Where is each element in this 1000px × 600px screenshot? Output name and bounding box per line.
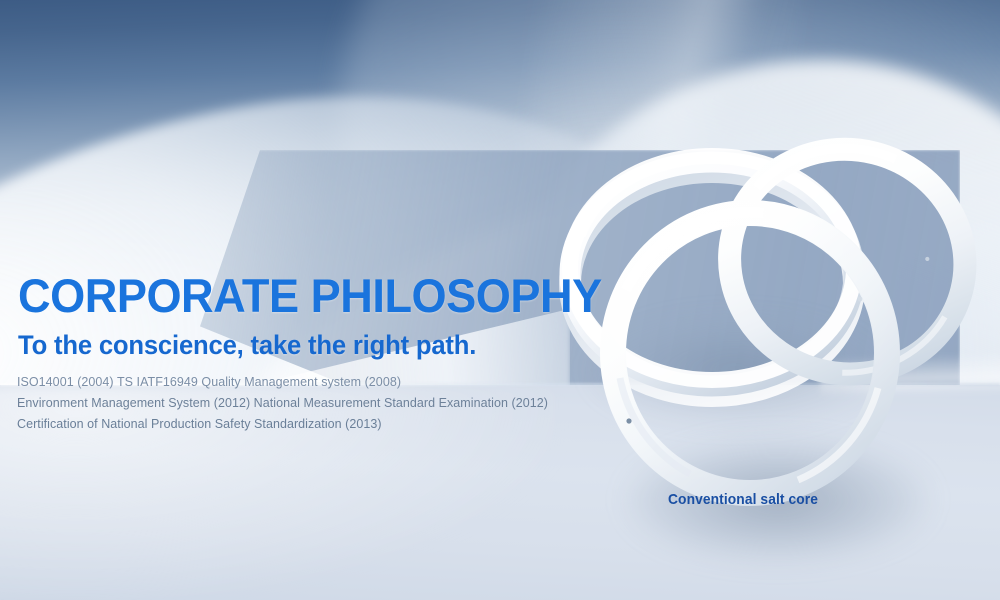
- page-subtitle: To the conscience, take the right path.: [18, 330, 476, 361]
- product-rings-image: [570, 140, 990, 540]
- product-caption: Conventional salt core: [668, 491, 818, 508]
- certification-list: ISO14001 (2004) TS IATF16949 Quality Man…: [17, 372, 637, 435]
- ring-front: [598, 198, 908, 508]
- page-title: CORPORATE PHILOSOPHY: [18, 272, 602, 320]
- certification-line: ISO14001 (2004) TS IATF16949 Quality Man…: [17, 372, 637, 393]
- corporate-philosophy-banner: CORPORATE PHILOSOPHY To the conscience, …: [0, 0, 1000, 600]
- certification-line: Environment Management System (2012) Nat…: [17, 393, 637, 414]
- certification-line: Certification of National Production Saf…: [17, 414, 637, 435]
